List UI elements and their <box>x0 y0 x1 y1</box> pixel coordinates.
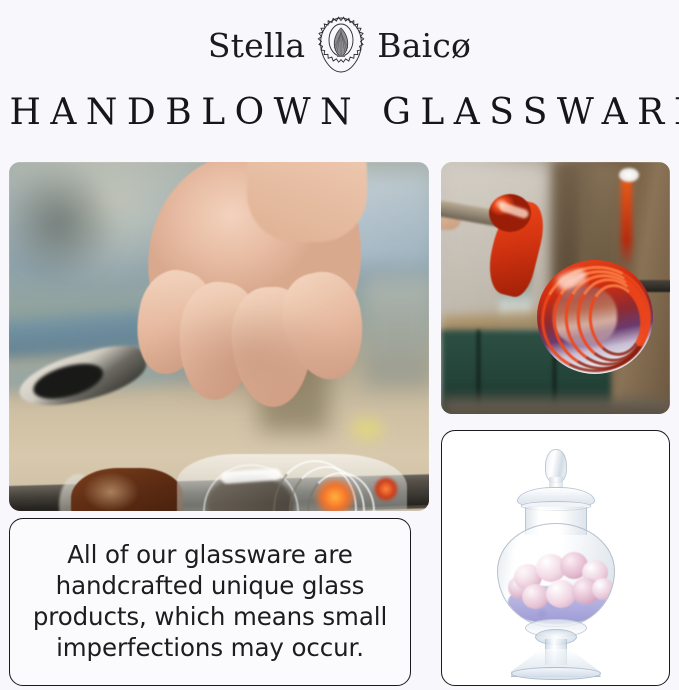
jar-bowl <box>497 523 615 627</box>
jar-glass-highlight <box>512 536 538 588</box>
brand-name-right: Baicø <box>377 29 471 62</box>
hand-shadow <box>153 302 353 412</box>
background-shadow-blob <box>9 162 119 282</box>
hot-glass-glow <box>313 476 357 511</box>
disclaimer-card: All of our glassware are handcrafted uni… <box>9 518 411 686</box>
glass-apothecary-jar <box>481 443 631 675</box>
background-lamp <box>619 168 639 182</box>
glassblower-hand <box>127 162 387 452</box>
disclaimer-text: All of our glassware are handcrafted uni… <box>24 540 396 663</box>
background-lamp-glow <box>621 178 632 268</box>
page-headline: HANDBLOWN GLASSWARE <box>0 92 679 133</box>
background-floor <box>441 398 670 414</box>
brand-name-left: Stella <box>208 29 305 62</box>
molten-clear-glass-vessel <box>177 454 407 511</box>
amber-glass-blob <box>71 468 183 511</box>
glassblower-hand-shaping-glass-photo <box>9 162 429 511</box>
wrist <box>247 162 367 242</box>
brand-logo: Stella Baicø <box>0 14 679 76</box>
candy-piece <box>592 578 614 600</box>
glass-apothecary-jar-product-photo <box>441 430 670 686</box>
jar-foot-rim <box>511 667 601 680</box>
hot-glass-glow-secondary <box>373 476 399 502</box>
ornate-oval-leaf-emblem-icon <box>311 15 371 75</box>
molten-red-glass-gather-photo <box>441 162 670 414</box>
